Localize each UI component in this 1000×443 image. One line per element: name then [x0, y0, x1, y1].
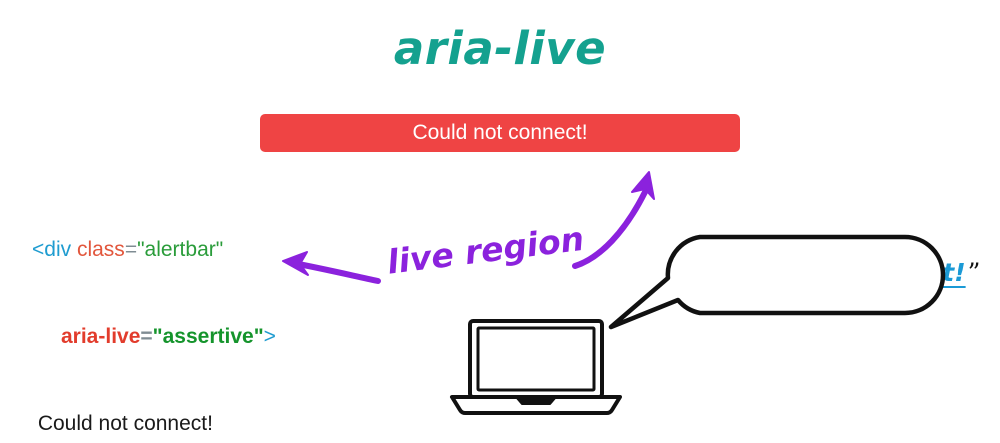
code-line-3: Could not connect!	[32, 409, 276, 438]
code-token-attr-class: class	[77, 238, 125, 261]
laptop-icon	[452, 321, 620, 413]
diagram-canvas: aria-live Could not connect! <div class=…	[0, 0, 1000, 443]
alert-bar: Could not connect!	[260, 114, 740, 152]
page-title: aria-live	[0, 22, 1000, 75]
alert-bar-message: Could not connect!	[412, 121, 587, 145]
code-token-attr-aria-live: aria-live	[61, 325, 140, 348]
laptop-notch	[516, 397, 556, 404]
laptop-base	[452, 397, 620, 413]
code-token-equals-2: =	[140, 325, 152, 348]
open-quote-glyph: “	[684, 258, 697, 287]
code-token-inner-text: Could not connect!	[32, 412, 213, 435]
code-token-gt: >	[264, 325, 276, 348]
code-token-equals-1: =	[125, 238, 137, 261]
code-token-value-alertbar: "alertbar"	[137, 238, 223, 261]
code-line-1: <div class="alertbar"	[32, 235, 276, 264]
code-snippet: <div class="alertbar" aria-live="asserti…	[32, 177, 276, 443]
laptop-screen	[478, 328, 594, 390]
arrow-up-right-icon	[575, 172, 654, 266]
code-line-2: aria-live="assertive">	[32, 322, 276, 351]
code-token-tag-open: <div	[32, 238, 71, 261]
annotation-live-region-label: live region	[385, 219, 586, 282]
laptop-lid	[470, 321, 602, 397]
arrow-left-icon	[283, 252, 378, 281]
speech-bubble-message: Could not connect!	[697, 258, 968, 287]
speech-bubble-text: “Could not connect!”	[684, 258, 980, 287]
code-token-value-assertive: "assertive"	[153, 325, 264, 348]
close-quote-glyph: ”	[968, 258, 981, 287]
